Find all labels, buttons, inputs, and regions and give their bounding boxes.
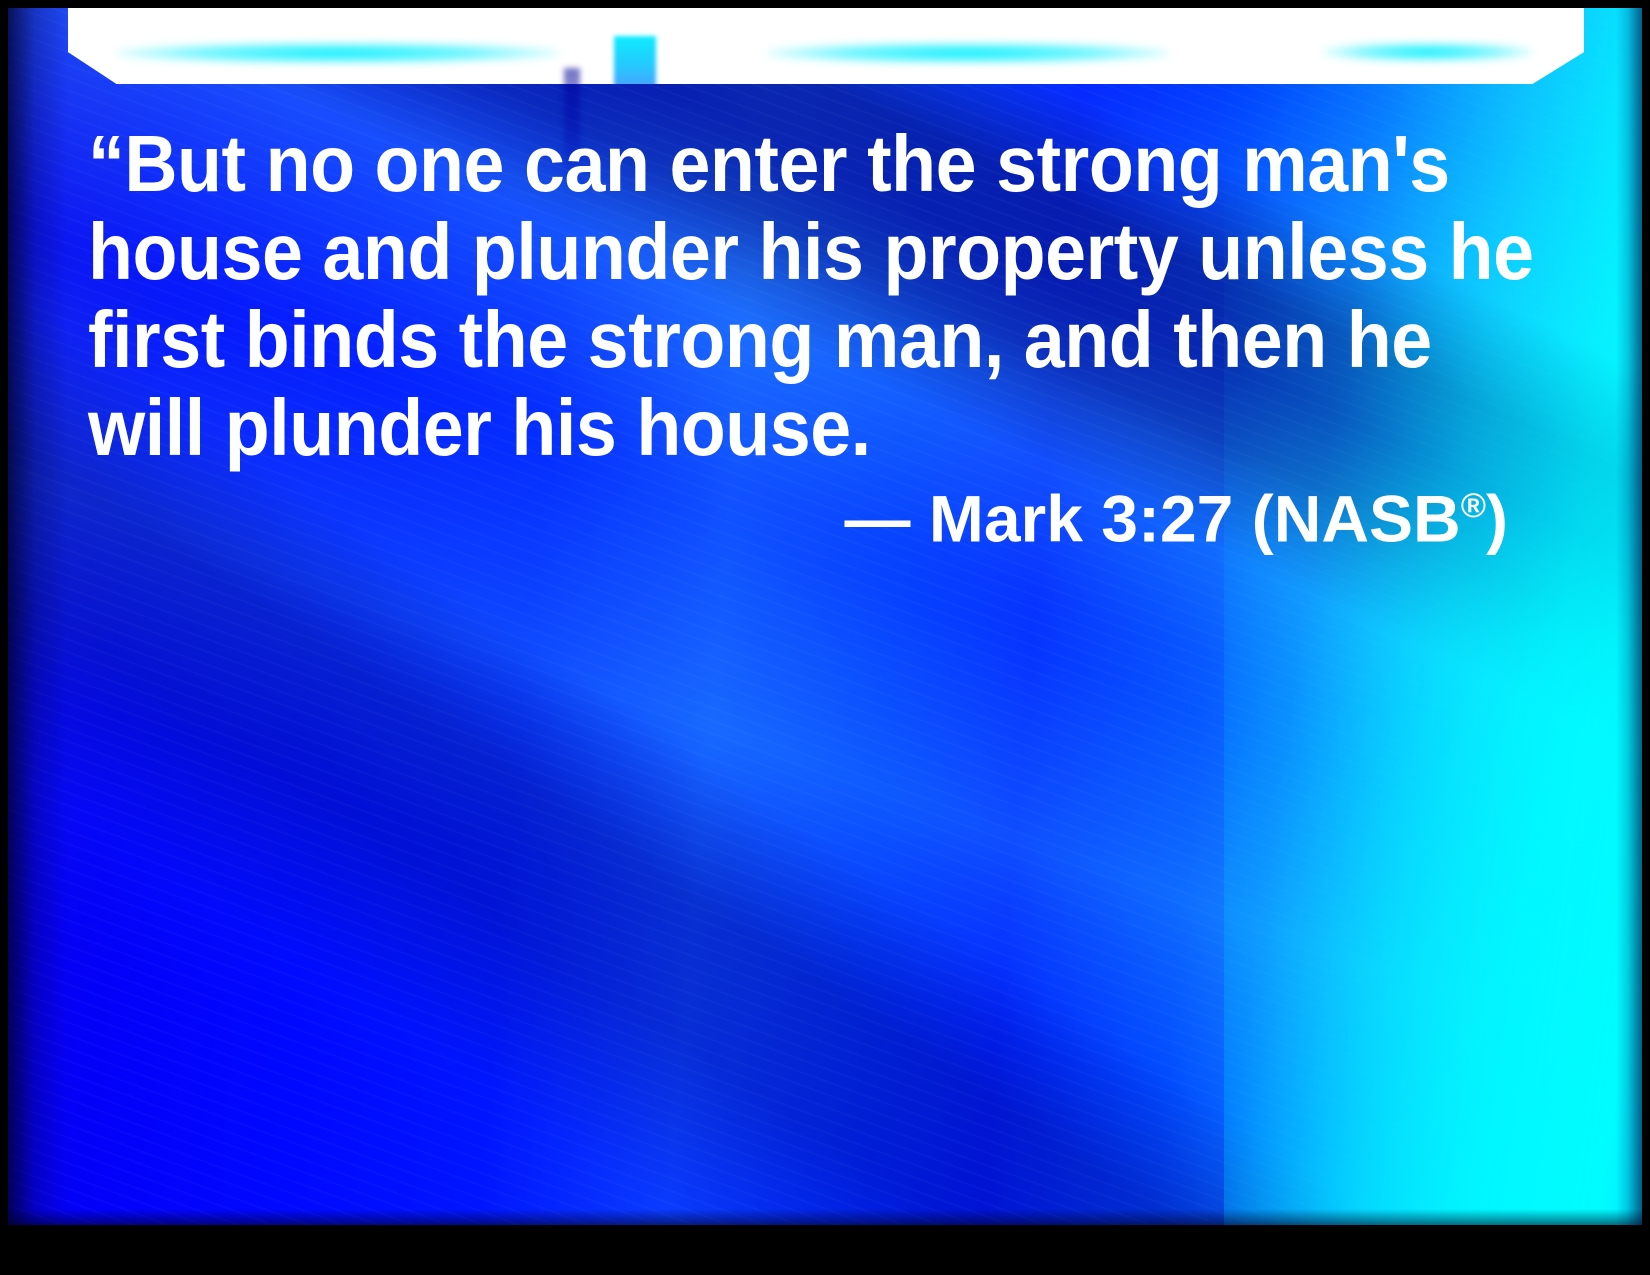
scripture-quote-text: “But no one can enter the strong man's h… bbox=[88, 120, 1488, 472]
header-band bbox=[68, 8, 1584, 84]
attribution-version-close: ) bbox=[1486, 482, 1508, 556]
background-right-edge-shade bbox=[1616, 8, 1642, 1225]
attribution-reference: Mark 3:27 bbox=[929, 482, 1234, 556]
header-glow-right bbox=[1323, 42, 1533, 62]
slide-artwork-panel: “But no one can enter the strong man's h… bbox=[8, 8, 1642, 1225]
scripture-slide: “But no one can enter the strong man's h… bbox=[0, 0, 1650, 1275]
attribution-version-open: (NASB bbox=[1252, 482, 1461, 556]
quote-line-1: “But no one can enter the strong man's bbox=[88, 120, 1376, 208]
background-bottom-edge-shade bbox=[8, 1209, 1642, 1225]
registered-trademark-icon: ® bbox=[1461, 487, 1486, 525]
scripture-attribution: — Mark 3:27 (NASB®) bbox=[88, 468, 1508, 557]
background-left-edge-shade bbox=[8, 8, 68, 1225]
header-notch bbox=[614, 36, 656, 88]
header-glow-left bbox=[118, 42, 558, 64]
header-glow-center bbox=[768, 42, 1168, 64]
quote-line-3: first binds the strong man, and then he bbox=[88, 296, 1376, 384]
quote-line-4: will plunder his house. bbox=[88, 384, 1376, 472]
attribution-dash: — bbox=[845, 482, 911, 556]
quote-line-2: house and plunder his property unless he bbox=[88, 208, 1376, 296]
